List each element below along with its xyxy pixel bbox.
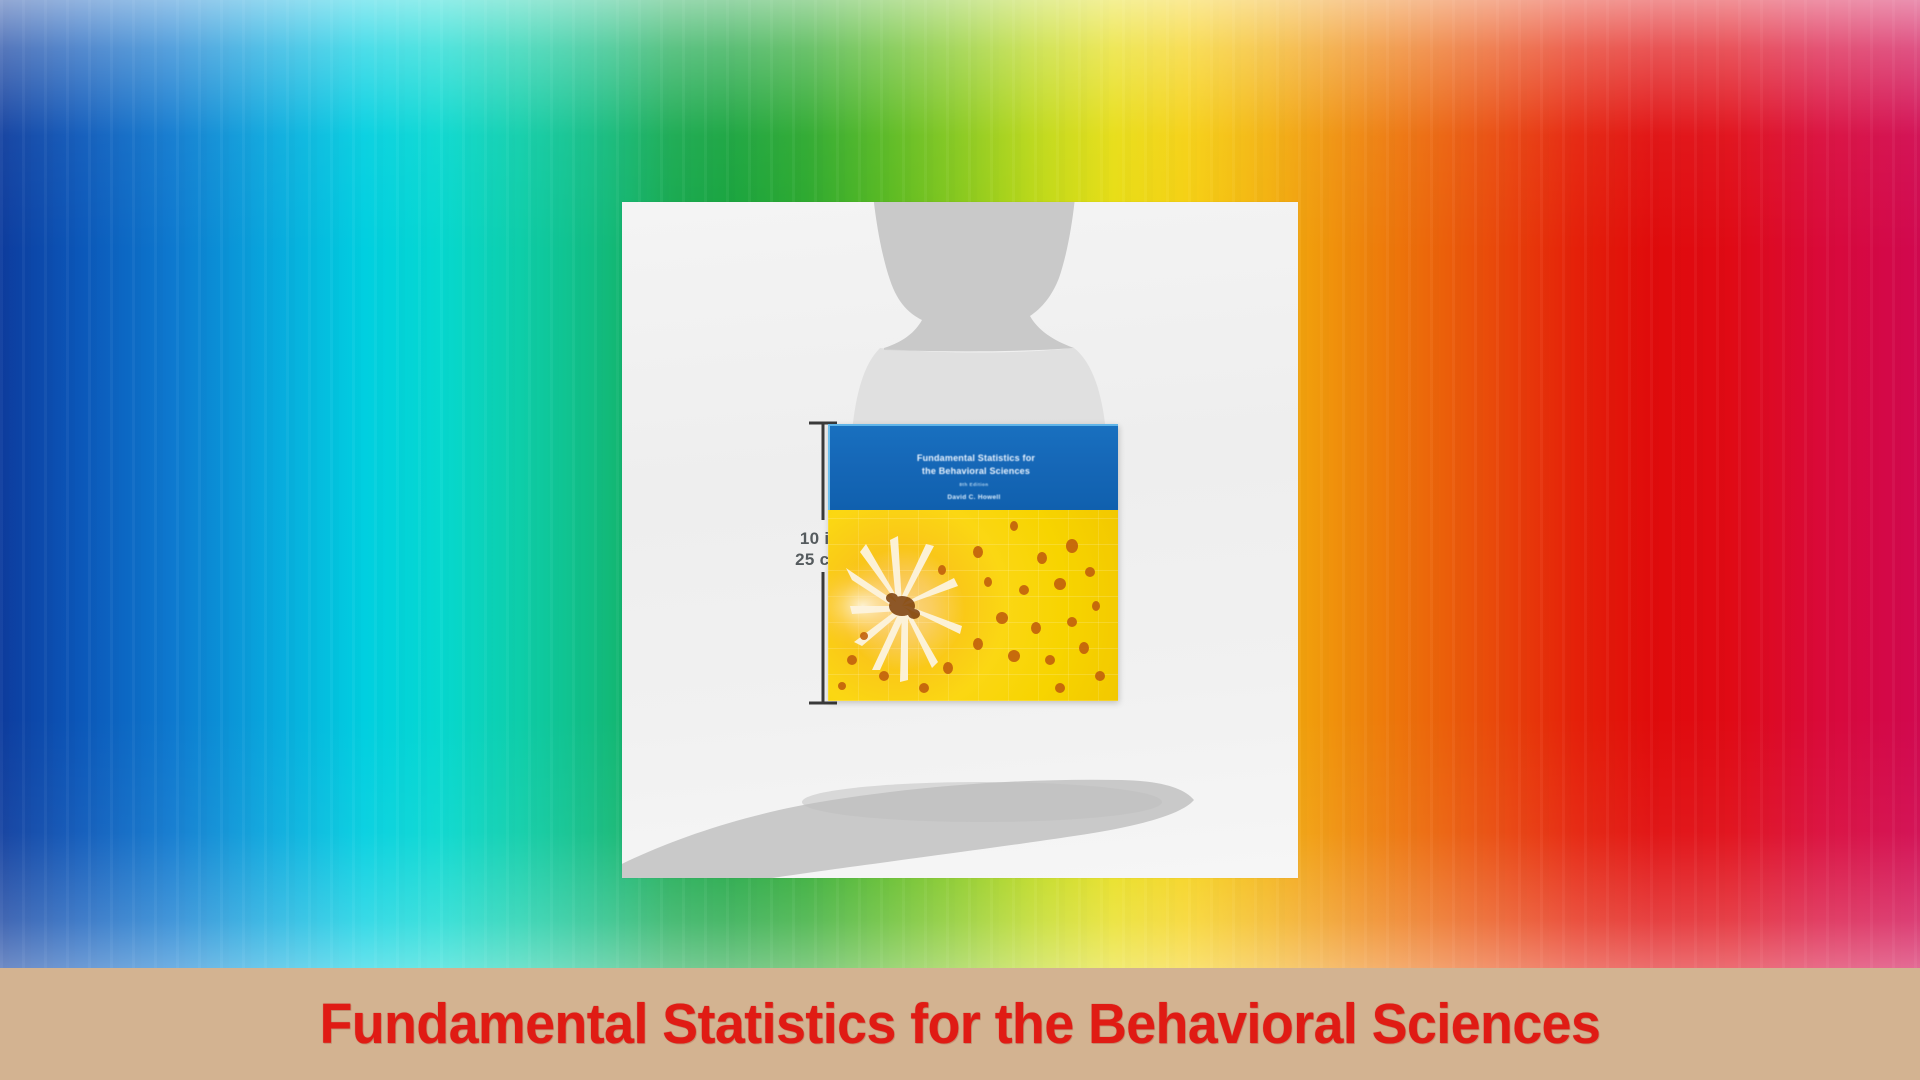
- screenshot-root: 10 in 25 cm Fundamental Statistics for t…: [0, 0, 1920, 1080]
- book-cover-top-band: Fundamental Statistics for the Behaviora…: [828, 424, 1118, 510]
- book-cover-artwork: [828, 510, 1118, 701]
- book-cover-author: David C. Howell: [830, 494, 1118, 501]
- floral-burst-icon: [828, 510, 1118, 701]
- product-image-panel[interactable]: 10 in 25 cm Fundamental Statistics for t…: [622, 202, 1298, 878]
- book-cover-image[interactable]: Fundamental Statistics for the Behaviora…: [828, 424, 1118, 701]
- book-title-line-2: the Behavioral Sciences: [858, 465, 1094, 478]
- caption-title: Fundamental Statistics for the Behaviora…: [58, 991, 1863, 1057]
- book-title-line-1: Fundamental Statistics for: [858, 452, 1094, 465]
- caption-bar: Fundamental Statistics for the Behaviora…: [0, 968, 1920, 1080]
- book-cover-edition: 8th Edition: [830, 482, 1118, 487]
- book-cover-title: Fundamental Statistics for the Behaviora…: [858, 452, 1094, 478]
